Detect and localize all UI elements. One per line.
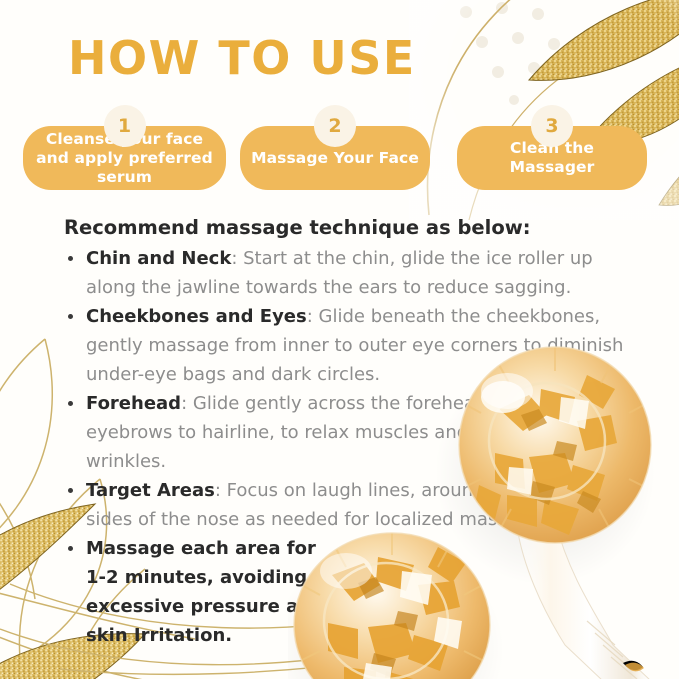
step-item-1[interactable]: 1 Cleanse your face and apply preferred … (23, 126, 226, 190)
bullet-term: Chin and Neck (86, 248, 231, 269)
bullet-term: Target Areas (86, 480, 215, 501)
page-title: HOW TO USE (68, 32, 416, 84)
bullet-term: Cheekbones and Eyes (86, 306, 307, 327)
instruction-bullet: Chin and Neck: Start at the chin, glide … (64, 244, 624, 302)
step-number-badge-3: 3 (531, 105, 573, 147)
step-item-3[interactable]: 3 Clean the Massager (457, 126, 647, 190)
step-number-badge-2: 2 (314, 105, 356, 147)
bullet-term: Forehead (86, 393, 181, 414)
product-image-massage-ball (288, 513, 516, 679)
steps-row: 1 Cleanse your face and apply preferred … (0, 108, 679, 198)
instructions-intro: Recommend massage technique as below: (64, 213, 624, 242)
how-to-use-infographic: HOW TO USE 1 Cleanse your face and apply… (0, 0, 679, 679)
cream-dot-grid-decoration (454, 2, 584, 122)
step-number-badge-1: 1 (104, 105, 146, 147)
step-item-2[interactable]: 2 Massage Your Face (240, 126, 430, 190)
